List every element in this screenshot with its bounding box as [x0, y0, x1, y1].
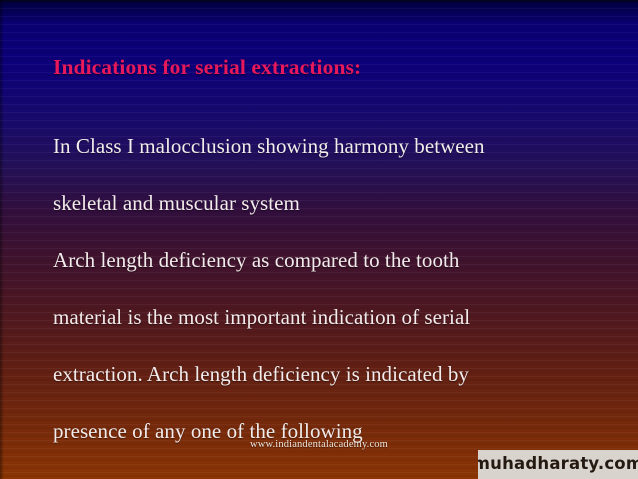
- footer-source-url: www.indiandentalacademy.com: [0, 439, 638, 450]
- body-line: material is the most important indicatio…: [53, 289, 618, 346]
- watermark-badge: muhadharaty.com: [478, 450, 638, 479]
- body-line: extraction. Arch length deficiency is in…: [53, 346, 618, 403]
- body-line: Arch length deficiency as compared to th…: [53, 232, 618, 289]
- presentation-slide: Indications for serial extractions: In C…: [0, 0, 638, 479]
- body-line: skeletal and muscular system: [53, 175, 618, 232]
- slide-title: Indications for serial extractions:: [53, 55, 361, 80]
- watermark-label: muhadharaty.com: [478, 456, 638, 473]
- body-paragraph-1: In Class I malocclusion showing harmony …: [53, 118, 618, 232]
- slide-content: Indications for serial extractions: In C…: [0, 0, 638, 479]
- body-line: In Class I malocclusion showing harmony …: [53, 118, 618, 175]
- body-paragraph-2: Arch length deficiency as compared to th…: [53, 232, 618, 460]
